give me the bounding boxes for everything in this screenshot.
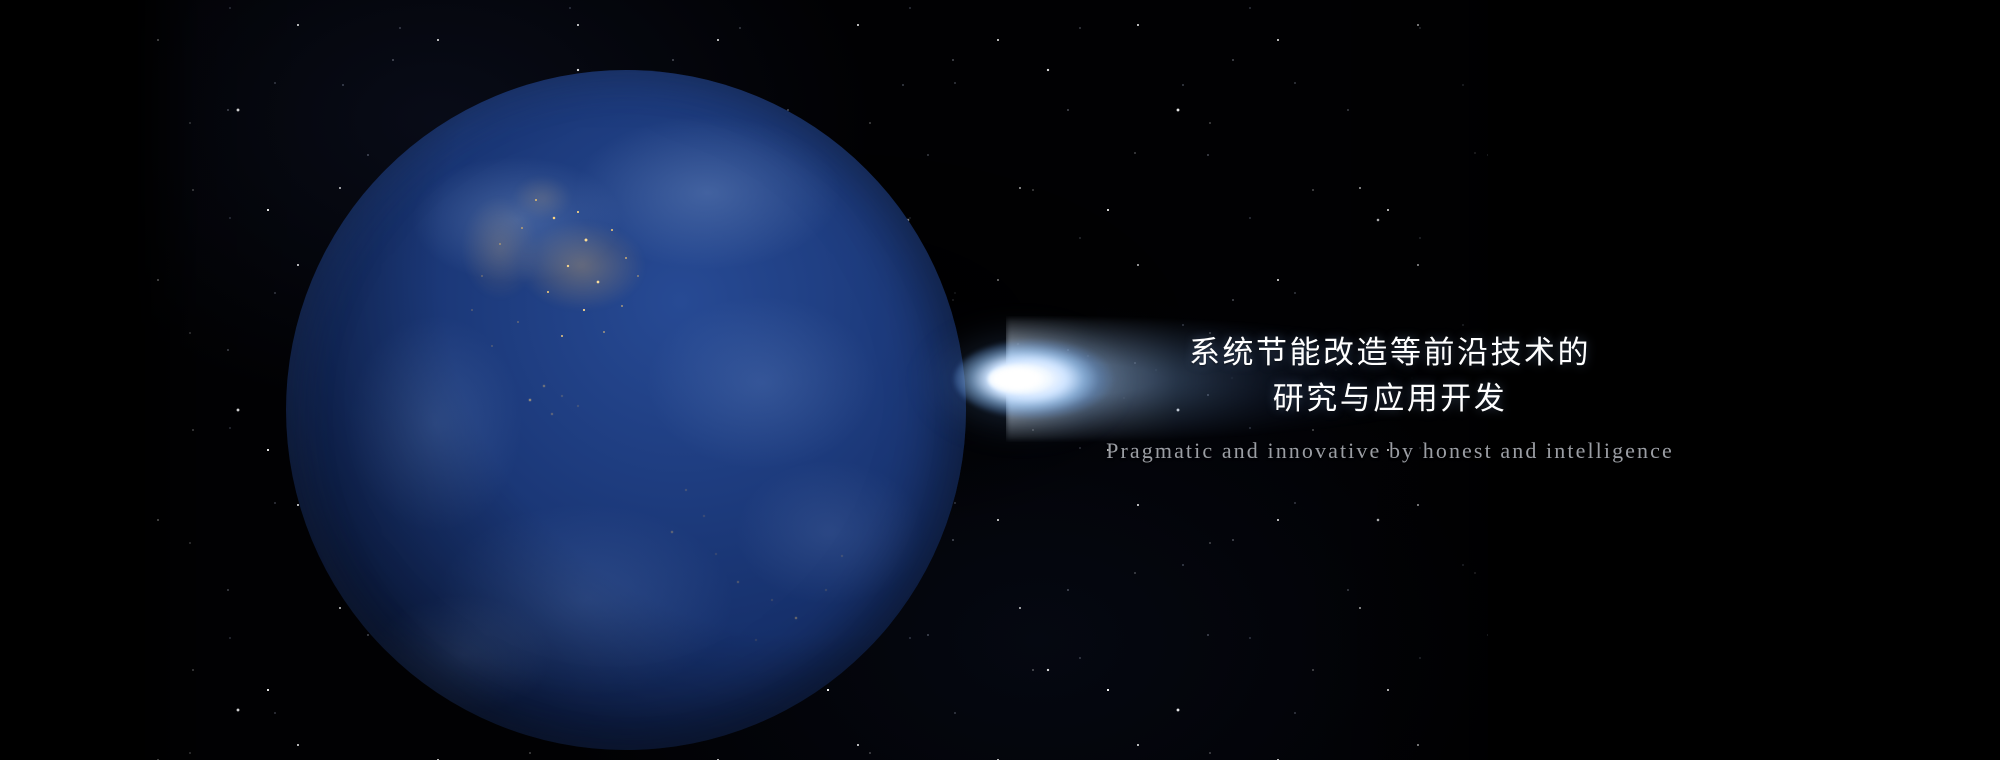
atmosphere-limb [283,67,969,753]
banner-copy: 系统节能改造等前沿技术的 研究与应用开发 Pragmatic and innov… [980,330,1800,464]
hero-banner: 系统节能改造等前沿技术的 研究与应用开发 Pragmatic and innov… [0,0,2000,760]
headline-line-1: 系统节能改造等前沿技术的 [980,330,1800,376]
earth-globe [286,70,966,750]
headline-line-2: 研究与应用开发 [980,376,1800,422]
tagline: Pragmatic and innovative by honest and i… [980,438,1800,464]
